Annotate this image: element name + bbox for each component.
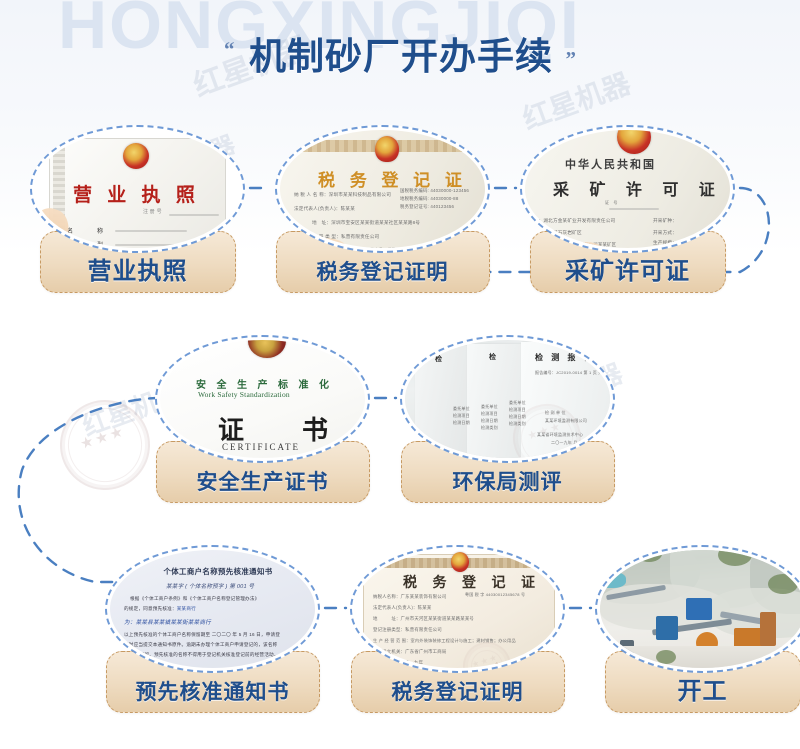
- step-image-oval: 税 务 登 记 证 粤国 税 字 44030012345678 号 纳税人名称：…: [350, 545, 565, 673]
- document-artwork-safety-certificate: 安 全 生 产 标 准 化 Work Safety Standardizatio…: [160, 340, 365, 458]
- page-title: “ 机制砂厂开办手续 ”: [0, 26, 800, 80]
- step-image-oval: 中华人民共和国 采 矿 许 可 证 证 号 权人：湖北方金某矿业开发有限责任公司…: [520, 125, 735, 253]
- flow-step-mining-license[interactable]: 中华人民共和国 采 矿 许 可 证 证 号 权人：湖北方金某矿业开发有限责任公司…: [520, 125, 735, 293]
- document-artwork-business-license: 营 业 执 照 注 册 号 名 称 类 型: [35, 130, 240, 248]
- step-image-oval: 安 全 生 产 标 准 化 Work Safety Standardizatio…: [155, 335, 370, 463]
- flow-step-pre-approval-notice[interactable]: 个体工商户名称预先核准通知书 某某字 ( 个体名称预字 ) 第 001 号 根据…: [105, 545, 320, 713]
- document-artwork-tax-registration: 税 务 登 记 证 国税税务编码: 44030000-123456 地税税务编码…: [280, 130, 485, 248]
- flow-step-business-license[interactable]: 营 业 执 照 注 册 号 名 称 类 型 营业执照: [30, 125, 245, 293]
- step-label: 采矿许可证: [565, 259, 690, 283]
- document-artwork-test-reports: 检 检 检 测 报 告 报告编号：JC2019-0014 第 1 页 共 3 页…: [405, 340, 610, 458]
- step-label: 环保局测评: [453, 472, 563, 493]
- step-label: 预先核准通知书: [136, 682, 290, 703]
- open-quote-icon: “: [224, 37, 235, 62]
- flow-step-safety-production-certificate[interactable]: 安 全 生 产 标 准 化 Work Safety Standardizatio…: [155, 335, 370, 503]
- title-text: 机制砂厂开办手续: [249, 26, 553, 80]
- step-image-oval: [595, 545, 800, 673]
- step-label: 营业执照: [88, 259, 188, 283]
- poster-canvas: HONGXINGJIQI 红星机器 红星机器 红星机器 红星机器 红星机器 红星…: [0, 0, 800, 749]
- step-image-oval: 个体工商户名称预先核准通知书 某某字 ( 个体名称预字 ) 第 001 号 根据…: [105, 545, 320, 673]
- step-label: 安全生产证书: [197, 472, 329, 493]
- step-label: 开工: [678, 679, 728, 703]
- flow-step-tax-registration-2[interactable]: 税 务 登 记 证 粤国 税 字 44030012345678 号 纳税人名称：…: [350, 545, 565, 713]
- step-label: 税务登记证明: [317, 262, 449, 283]
- document-artwork-mining-license: 中华人民共和国 采 矿 许 可 证 证 号 权人：湖北方金某矿业开发有限责任公司…: [525, 130, 730, 248]
- document-artwork-pre-approval-notice: 个体工商户名称预先核准通知书 某某字 ( 个体名称预字 ) 第 001 号 根据…: [110, 550, 315, 668]
- close-quote-icon: ”: [565, 47, 576, 72]
- step-label: 税务登记证明: [392, 682, 524, 703]
- photo-artwork-quarry-site: [600, 550, 800, 668]
- step-image-oval: 营 业 执 照 注 册 号 名 称 类 型: [30, 125, 245, 253]
- flow-step-tax-registration-1[interactable]: 税 务 登 记 证 国税税务编码: 44030000-123456 地税税务编码…: [275, 125, 490, 293]
- document-artwork-tax-registration-2: 税 务 登 记 证 粤国 税 字 44030012345678 号 纳税人名称：…: [355, 550, 560, 668]
- step-image-oval: 检 检 检 测 报 告 报告编号：JC2019-0014 第 1 页 共 3 页…: [400, 335, 615, 463]
- flow-step-start-work[interactable]: 开工: [595, 545, 800, 713]
- step-image-oval: 税 务 登 记 证 国税税务编码: 44030000-123456 地税税务编码…: [275, 125, 490, 253]
- flow-step-environmental-assessment[interactable]: 检 检 检 测 报 告 报告编号：JC2019-0014 第 1 页 共 3 页…: [400, 335, 615, 503]
